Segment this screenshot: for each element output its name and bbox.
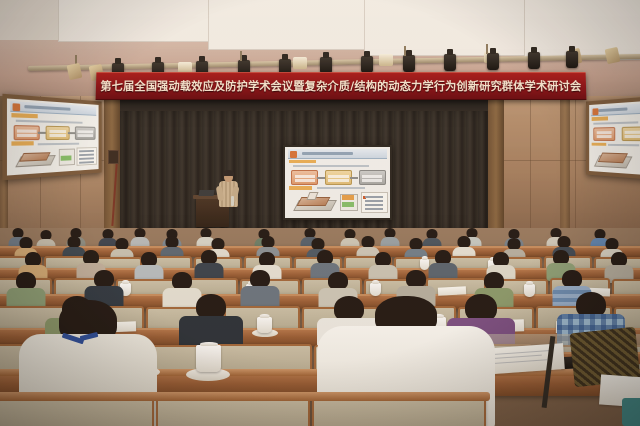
slide-process-box-3 xyxy=(359,170,386,185)
speaker-microphone xyxy=(231,196,234,206)
ceiling-panel xyxy=(524,0,640,60)
slide-chart-bar-green xyxy=(342,202,355,208)
paper-text-line xyxy=(488,355,542,360)
teal-fabric xyxy=(622,398,640,426)
slide-process-box-2 xyxy=(46,126,70,140)
teacup xyxy=(370,283,381,296)
slide-diagram-plate xyxy=(598,152,628,162)
audience-member xyxy=(380,228,400,248)
conference-banner: 第七届全国强动载效应及防护学术会议暨复杂介质/结构的动态力学行为创新研究群体学术… xyxy=(96,72,587,100)
wall-speaker-box xyxy=(108,150,119,164)
slide-box-row xyxy=(625,131,640,134)
center-projection-screen xyxy=(283,145,392,220)
slide-box-row xyxy=(295,175,315,178)
slide-text-line xyxy=(293,165,369,167)
paper-text-line xyxy=(489,359,548,364)
lamp-hanger xyxy=(486,44,488,54)
stage-light xyxy=(444,54,456,71)
slide-process-box-3 xyxy=(75,126,96,139)
banner-title-text: 第七届全国强动载效应及防护学术会议暨复杂介质/结构的动态力学行为创新研究群体学术… xyxy=(100,78,581,94)
slide-legend-entry xyxy=(79,161,93,164)
slide-legend-entry xyxy=(365,200,384,202)
stage-light xyxy=(361,56,373,73)
slide-legend-entry xyxy=(79,154,93,156)
slide-section-marker xyxy=(11,141,34,145)
teacup xyxy=(524,284,535,297)
slide-section-marker xyxy=(11,113,38,118)
slide-process-box-2 xyxy=(622,126,640,141)
warm-light-fixture xyxy=(605,47,621,64)
slide-text-line xyxy=(16,120,83,124)
slide-section-marker xyxy=(591,117,608,121)
slide-arrow xyxy=(68,132,75,134)
slide-legend xyxy=(361,192,388,212)
slide-process-box-2 xyxy=(325,170,352,185)
slide-box-row xyxy=(625,135,640,138)
slide-title-bar xyxy=(288,149,387,159)
slide-box-row xyxy=(77,131,93,134)
stage-light xyxy=(487,53,499,70)
slide-title-text xyxy=(598,108,627,112)
right-projection-screen xyxy=(586,96,640,180)
left-projection-screen xyxy=(2,94,101,181)
slide-chart-bar-green xyxy=(61,155,72,160)
slide-process-box-1 xyxy=(291,170,318,185)
slide-section-marker xyxy=(289,186,312,190)
slide-legend-entry xyxy=(365,208,384,210)
slide-box-row xyxy=(17,130,37,133)
wall-panel-seam xyxy=(530,96,531,236)
slide-box-row xyxy=(328,175,348,178)
wall-trim-right xyxy=(560,96,570,236)
slide-box-row xyxy=(362,179,382,182)
ceiling-panel xyxy=(364,0,526,56)
teacup xyxy=(196,345,221,372)
slide-legend-entry xyxy=(365,204,384,206)
slide-box-row xyxy=(77,134,93,137)
stage-light xyxy=(403,55,415,72)
slide-box-row xyxy=(17,134,37,137)
teacup xyxy=(257,317,272,333)
stage-light xyxy=(528,52,540,69)
slide-box-row xyxy=(596,131,612,134)
slide-legend-entry xyxy=(79,158,93,161)
ceiling-panel xyxy=(208,0,366,50)
slide-box-row xyxy=(49,134,66,137)
slide-legend-entry xyxy=(79,150,93,152)
slide-title-bar xyxy=(591,103,640,116)
slide-arrow xyxy=(38,132,46,134)
slide-section-marker xyxy=(289,160,316,164)
stage-light xyxy=(566,51,578,68)
lamp-hanger xyxy=(240,51,242,61)
slide-process-box-1 xyxy=(14,125,41,140)
slide-title-text xyxy=(302,152,353,155)
slide-diagram-plate xyxy=(19,152,51,162)
speaker-hair xyxy=(223,170,234,176)
laptop xyxy=(198,190,214,196)
warm-light-fixture xyxy=(293,57,307,69)
slide-chart-bar-orange xyxy=(342,195,355,199)
slide-box-row xyxy=(295,179,315,182)
warm-light-fixture xyxy=(379,54,393,66)
lamp-hanger xyxy=(404,46,406,56)
audience-member xyxy=(240,270,280,310)
slide-box-row xyxy=(328,179,348,182)
wall-panel-seam xyxy=(575,96,576,236)
slide-legend-entry xyxy=(365,196,384,198)
slide-arrow xyxy=(350,177,358,179)
slide-legend xyxy=(76,147,97,166)
slide-text-line xyxy=(608,144,639,146)
slide-box-row xyxy=(49,130,66,133)
slide-process-box-1 xyxy=(594,127,615,141)
conference-hall-photo: 第七届全国强动载效应及防护学术会议暨复杂介质/结构的动态力学行为创新研究群体学术… xyxy=(0,0,640,426)
slide-box-row xyxy=(362,175,382,178)
slide-arrow xyxy=(317,177,325,179)
slide-text-line xyxy=(317,187,365,189)
slide-text-line xyxy=(594,121,639,124)
slide-title-text xyxy=(24,105,70,110)
stage-pillar-right xyxy=(488,96,504,236)
slide-section-marker xyxy=(591,143,606,147)
warm-light-fixture xyxy=(67,63,83,80)
audience-member xyxy=(134,252,164,282)
foreground-chair-rail xyxy=(0,392,490,401)
audience-member xyxy=(368,252,398,282)
slide-box-row xyxy=(596,135,612,138)
slide-text-line xyxy=(38,142,79,145)
ceiling-panel xyxy=(58,0,210,42)
